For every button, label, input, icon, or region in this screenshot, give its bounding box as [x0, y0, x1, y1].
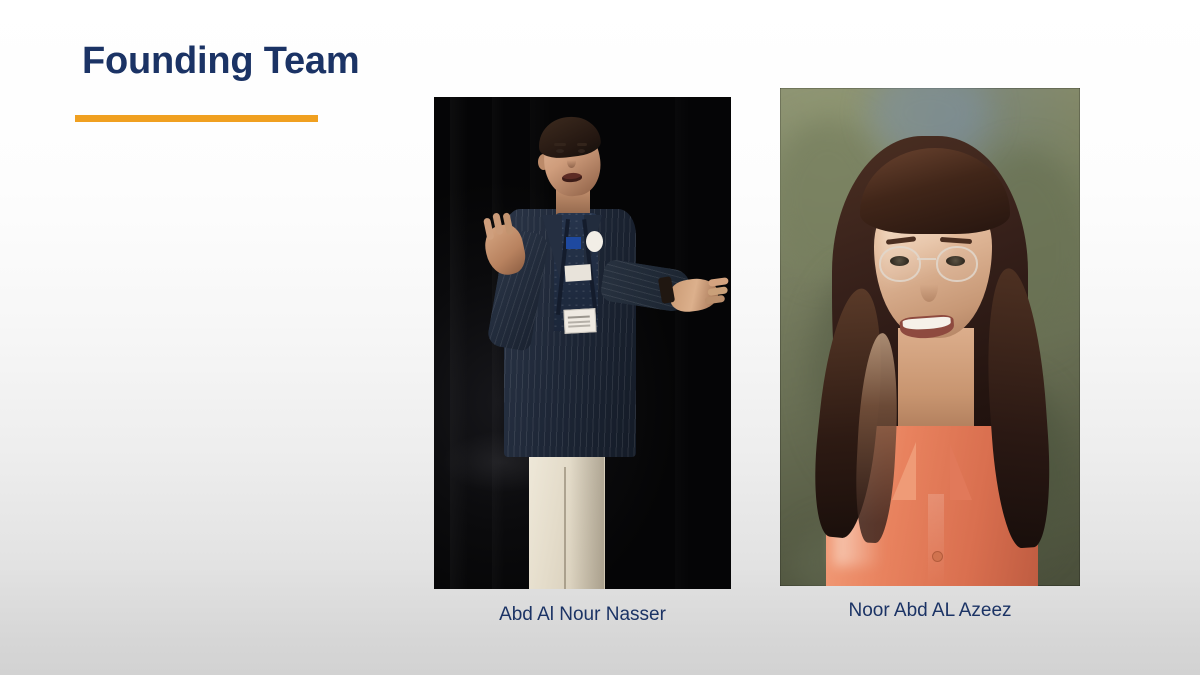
caption-abd-al-nour-nasser: Abd Al Nour Nasser [434, 604, 731, 626]
trouser-shading [570, 442, 604, 589]
page-title: Founding Team [82, 41, 359, 83]
woman-nose [920, 270, 938, 302]
woman-neck [898, 328, 974, 438]
woman-teeth [902, 316, 951, 330]
photo-left-content [434, 97, 731, 589]
photo-abd-al-nour-nasser [434, 97, 731, 589]
eyeglasses-lens-right [936, 246, 978, 282]
speaker-eye-left [556, 149, 564, 153]
photo-noor-abd-al-azeez [780, 88, 1080, 586]
speaker-eyebrow-left [554, 143, 566, 146]
title-underline-rule [75, 115, 318, 122]
caption-noor-abd-al-azeez: Noor Abd AL Azeez [780, 600, 1080, 622]
slide-founding-team: Founding Team [0, 0, 1200, 675]
conference-badge [563, 308, 596, 334]
trouser-seam [564, 467, 566, 589]
blouse-placket [928, 494, 944, 586]
badge-blue-tag [566, 237, 581, 249]
photo-right-content [780, 88, 1080, 586]
eyeglasses-bridge [917, 258, 936, 260]
speaker-eye-right [578, 149, 585, 153]
speaker-nose [567, 155, 576, 168]
eyeglasses-lens-left [879, 246, 921, 282]
blouse-button [932, 551, 943, 562]
blouse-collar-right [950, 444, 972, 500]
curtain-fold [450, 97, 476, 589]
speaker-eyebrow-right [577, 143, 587, 146]
badge-white-tag [564, 264, 591, 282]
curtain-fold [675, 97, 697, 589]
blouse-collar-left [892, 442, 916, 500]
lapel-pin [586, 231, 603, 252]
